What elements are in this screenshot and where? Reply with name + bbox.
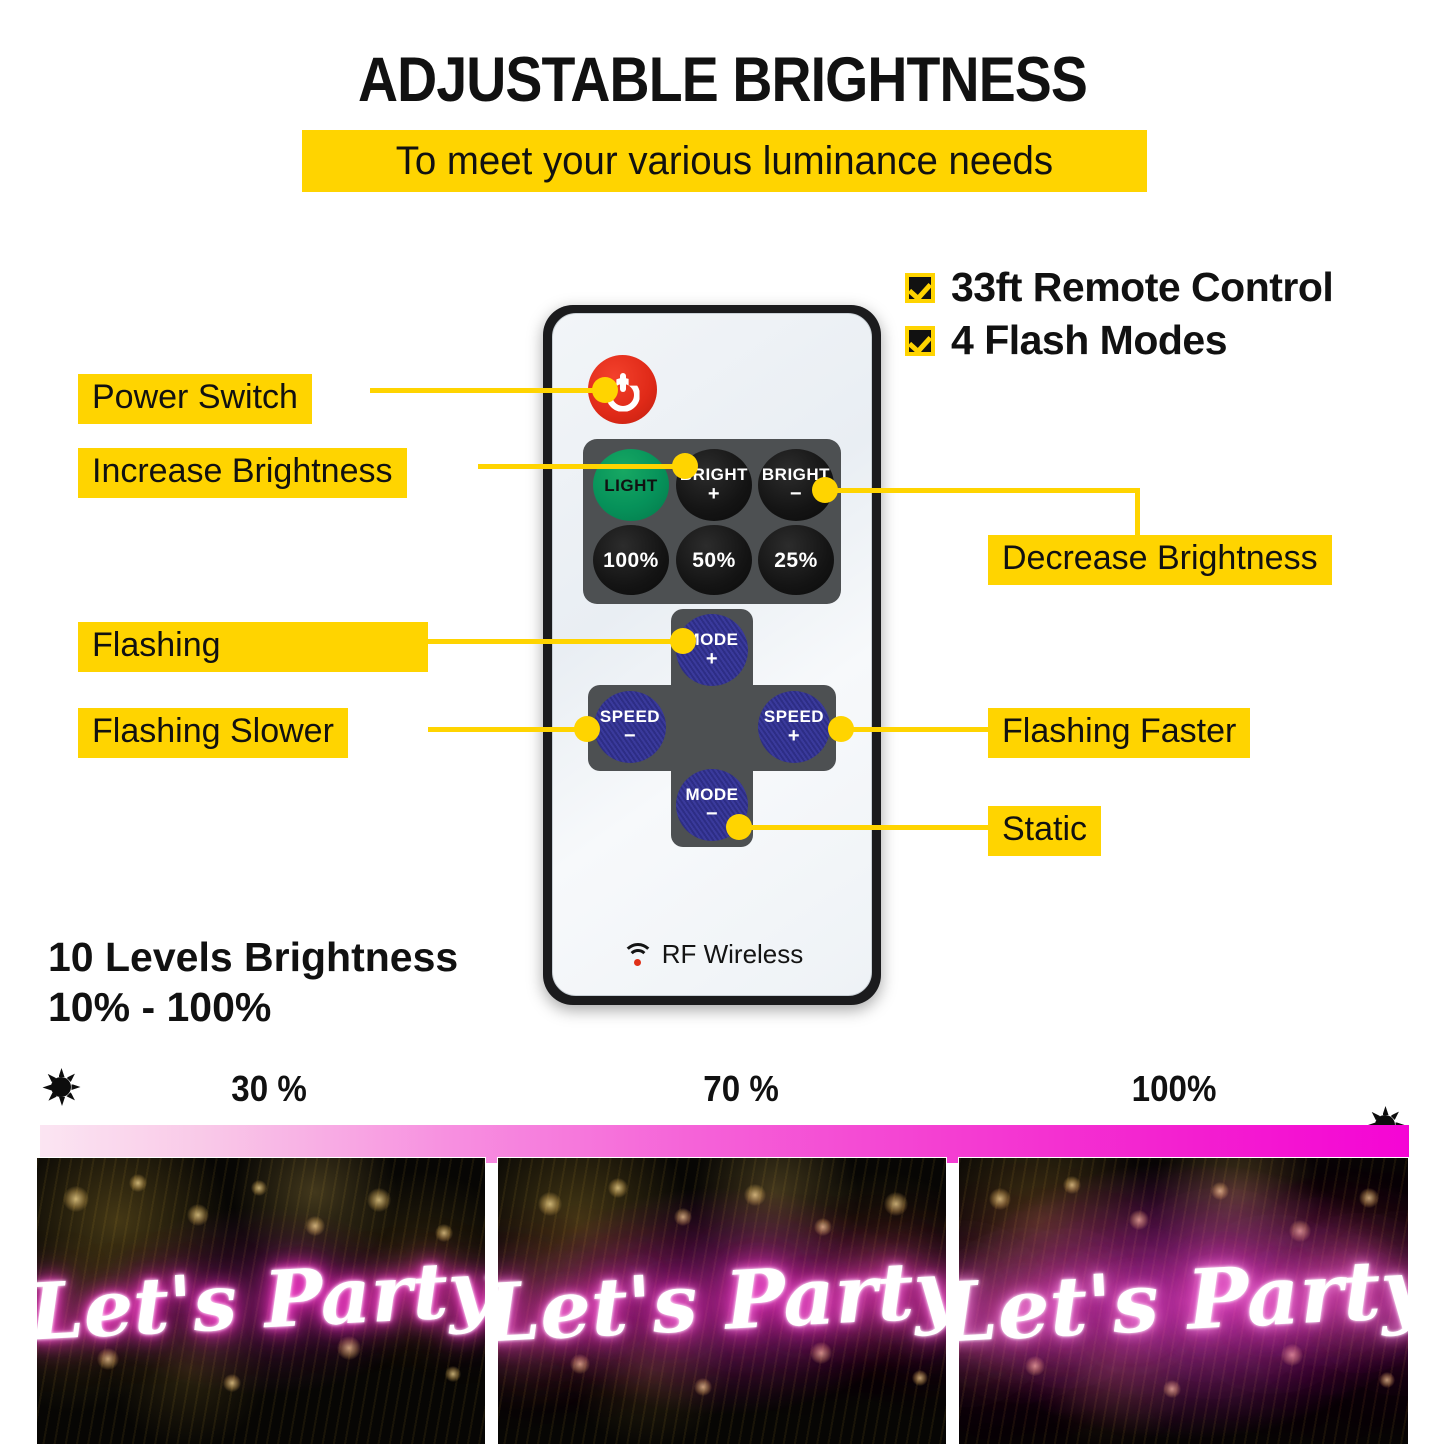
levels-heading-line1: 10 Levels Brightness [48, 932, 458, 982]
mode-down-label: MODE [686, 786, 739, 803]
light-button[interactable]: LIGHT [593, 449, 669, 521]
neon-sign-text: Let's Party [36, 1243, 486, 1358]
bright-up-sub: + [708, 484, 720, 504]
callout-increase-brightness: Increase Brightness [78, 448, 407, 498]
checkbox-checked-icon [905, 273, 935, 303]
rf-wireless-label: RF Wireless [662, 939, 804, 970]
leader-dot-power-switch [592, 377, 618, 403]
preset-25-button[interactable]: 25% [758, 525, 834, 595]
neon-sign-text: Let's Party [958, 1240, 1409, 1361]
preset-25-label: 25% [774, 550, 818, 571]
leader-dot-flashing-slower [574, 716, 600, 742]
dpad: MODE + SPEED − SPEED + MODE − [588, 609, 836, 847]
speed-down-button[interactable]: SPEED − [594, 691, 666, 763]
scale-tick-30: 30 % [231, 1068, 306, 1110]
subtitle-text: To meet your various luminance needs [396, 139, 1053, 184]
sun-icon [42, 1068, 80, 1106]
leader-line-flashing-faster [840, 727, 990, 732]
bright-down-sub: − [790, 484, 802, 504]
checkbox-checked-icon [905, 326, 935, 356]
leader-elbow-decrease-brightness [1135, 488, 1140, 536]
speed-down-label: SPEED [600, 708, 660, 725]
speed-up-button[interactable]: SPEED + [758, 691, 830, 763]
preset-50-button[interactable]: 50% [676, 525, 752, 595]
speed-up-label: SPEED [764, 708, 824, 725]
speed-down-sub: − [624, 726, 636, 746]
page-title: ADJUSTABLE BRIGHTNESS [87, 44, 1359, 116]
leader-line-decrease-brightness [828, 488, 1140, 493]
preset-100-label: 100% [603, 550, 659, 571]
callout-power-switch: Power Switch [78, 374, 312, 424]
levels-heading: 10 Levels Brightness 10% - 100% [48, 932, 458, 1032]
leader-line-increase-brightness [478, 464, 682, 469]
scale-tick-70: 70 % [703, 1068, 778, 1110]
neon-sign-text: Let's Party [497, 1242, 947, 1361]
mode-up-sub: + [706, 649, 718, 669]
mode-down-sub: − [706, 804, 718, 824]
feature-item-remote-control: 33ft Remote Control [905, 264, 1333, 311]
callout-flashing-faster: Flashing Faster [988, 708, 1250, 758]
leader-dot-flashing [670, 628, 696, 654]
speed-up-sub: + [788, 726, 800, 746]
subtitle-banner: To meet your various luminance needs [302, 130, 1147, 192]
sample-panel-70: Let's Party [497, 1157, 947, 1445]
rf-wireless-footer: RF Wireless [618, 939, 808, 970]
preset-100-button[interactable]: 100% [593, 525, 669, 595]
callout-flashing: Flashing [78, 622, 428, 672]
leader-line-static [740, 825, 990, 830]
feature-label: 4 Flash Modes [951, 317, 1227, 364]
leader-line-flashing [428, 639, 678, 644]
callout-flashing-slower: Flashing Slower [78, 708, 348, 758]
feature-label: 33ft Remote Control [951, 264, 1333, 311]
leader-dot-increase-brightness [672, 453, 698, 479]
callout-static: Static [988, 806, 1101, 856]
leader-line-power-switch [370, 388, 605, 393]
scale-tick-100: 100% [1132, 1068, 1217, 1110]
feature-list: 33ft Remote Control 4 Flash Modes [905, 264, 1333, 370]
light-button-label: LIGHT [604, 477, 658, 494]
preset-50-label: 50% [692, 550, 736, 571]
sample-panel-100: Let's Party [958, 1157, 1409, 1445]
wifi-icon [623, 943, 653, 967]
levels-heading-line2: 10% - 100% [48, 982, 458, 1032]
leader-line-flashing-slower [428, 727, 583, 732]
sample-panel-30: Let's Party [36, 1157, 486, 1445]
feature-item-flash-modes: 4 Flash Modes [905, 317, 1333, 364]
callout-decrease-brightness: Decrease Brightness [988, 535, 1332, 585]
